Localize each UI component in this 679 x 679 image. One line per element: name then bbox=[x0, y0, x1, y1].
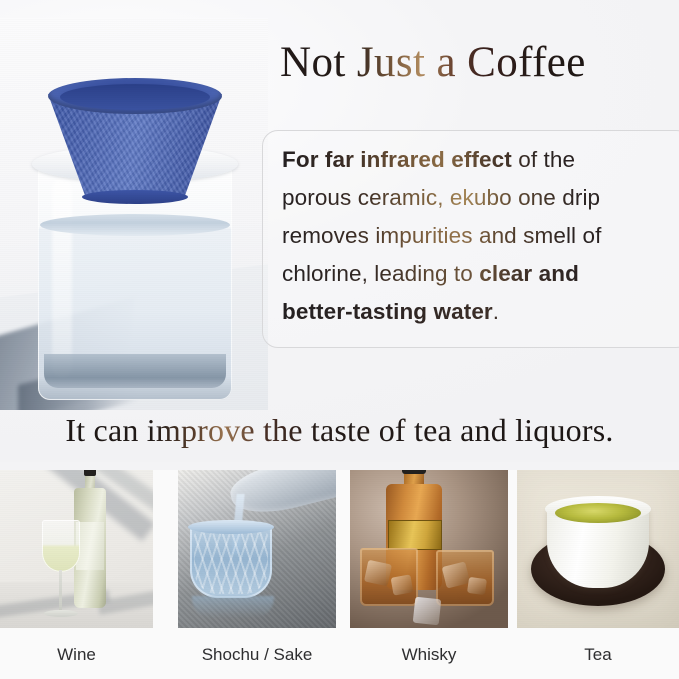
wine-glass-stem bbox=[59, 570, 62, 612]
headline: Not Just a Coffee bbox=[280, 40, 586, 86]
glass-highlight bbox=[52, 178, 72, 378]
callout-text: For far infrared effect of the porous ce… bbox=[282, 141, 679, 331]
ceramic-filter-tip bbox=[82, 190, 188, 204]
ceramic-filter-inner bbox=[60, 84, 210, 110]
ice-cube bbox=[391, 574, 414, 595]
wine-glass-foot bbox=[44, 610, 78, 617]
sake-cup-rim bbox=[188, 520, 274, 534]
caption-wine: Wine bbox=[0, 630, 153, 679]
sake-reflection bbox=[192, 596, 274, 618]
callout-line-2: porous ceramic, ekubo one drip bbox=[282, 179, 679, 217]
wine-bottle-label bbox=[76, 522, 104, 570]
callout-line-4: chlorine, leading to clear and bbox=[282, 255, 679, 293]
wine-glass-bowl bbox=[42, 520, 80, 572]
promo-graphic: Not Just a Coffee For far infrared effec… bbox=[0, 0, 679, 679]
callout-line-5: better-tasting water. bbox=[282, 293, 679, 331]
whisky-bottle-label bbox=[388, 520, 442, 550]
whisky-bottle-cap bbox=[402, 470, 426, 474]
ice-cube bbox=[364, 560, 392, 587]
callout-line-1: For far infrared effect of the bbox=[282, 141, 679, 179]
thumbnail-strip: Wine Shochu / Sake Whisky Tea bbox=[0, 470, 679, 679]
caption-tea: Tea bbox=[517, 630, 679, 679]
product-photo bbox=[0, 18, 268, 410]
sake-cup-cut-pattern bbox=[194, 532, 268, 594]
thumbnail-wine bbox=[0, 470, 153, 628]
thumbnail-tea bbox=[517, 470, 679, 628]
callout-line-3: removes impurities and smell of bbox=[282, 217, 679, 255]
tagline-text: It can improve the taste of tea and liqu… bbox=[65, 412, 613, 448]
green-tea-liquid bbox=[555, 503, 641, 523]
ice-cube bbox=[467, 577, 487, 595]
tagline: It can improve the taste of tea and liqu… bbox=[0, 412, 679, 449]
water-line bbox=[40, 214, 230, 236]
thumbnail-sake bbox=[178, 470, 336, 628]
thumbnail-whisky bbox=[350, 470, 508, 628]
wine-bottle-cap bbox=[84, 470, 96, 476]
glass-base bbox=[44, 354, 226, 388]
caption-whisky: Whisky bbox=[350, 630, 508, 679]
caption-sake: Shochu / Sake bbox=[178, 630, 336, 679]
ice-cube bbox=[413, 597, 442, 626]
